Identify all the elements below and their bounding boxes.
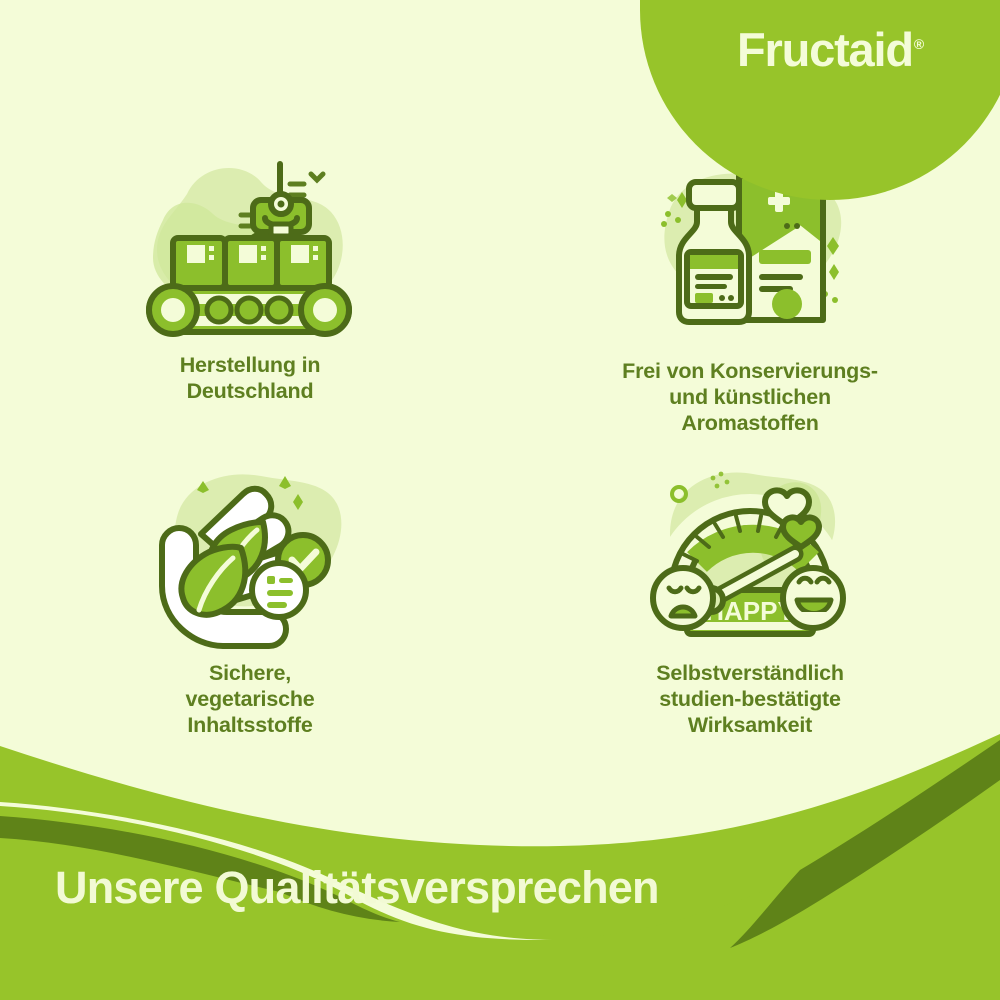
happiness-gauge-icon: HAPPY bbox=[635, 450, 865, 655]
caption-line: Deutschland bbox=[180, 379, 321, 405]
trademark-icon: ® bbox=[914, 36, 923, 52]
feature-card-4: HAPPY bbox=[500, 436, 1000, 740]
caption-line: Sichere, bbox=[185, 661, 314, 687]
poster-canvas: Fructaid® bbox=[0, 0, 1000, 1000]
factory-conveyor-icon bbox=[135, 142, 365, 347]
caption-line: Aromastoffen bbox=[622, 411, 878, 437]
hand-leaf-check-icon bbox=[135, 450, 365, 655]
brand-name: Fructaid® bbox=[737, 26, 923, 73]
brand-logo: Fructaid® bbox=[640, 0, 1000, 200]
footer-wave-graphic bbox=[0, 710, 1000, 1000]
caption-line: Selbstverständlich bbox=[656, 661, 844, 687]
feature-grid: Herstellung in Deutschland bbox=[0, 120, 1000, 740]
caption-line: und künstlichen bbox=[622, 385, 878, 411]
feature-caption-2: Frei von Konservierungs- und künstlichen… bbox=[622, 359, 878, 436]
feature-card-3: Sichere, vegetarische Inhaltsstoffe bbox=[0, 436, 500, 740]
caption-line: Frei von Konservierungs- bbox=[622, 359, 878, 385]
caption-line: Herstellung in bbox=[180, 353, 321, 379]
feature-card-1: Herstellung in Deutschland bbox=[0, 120, 500, 436]
feature-caption-1: Herstellung in Deutschland bbox=[180, 353, 321, 405]
brand-name-text: Fructaid bbox=[737, 23, 913, 76]
